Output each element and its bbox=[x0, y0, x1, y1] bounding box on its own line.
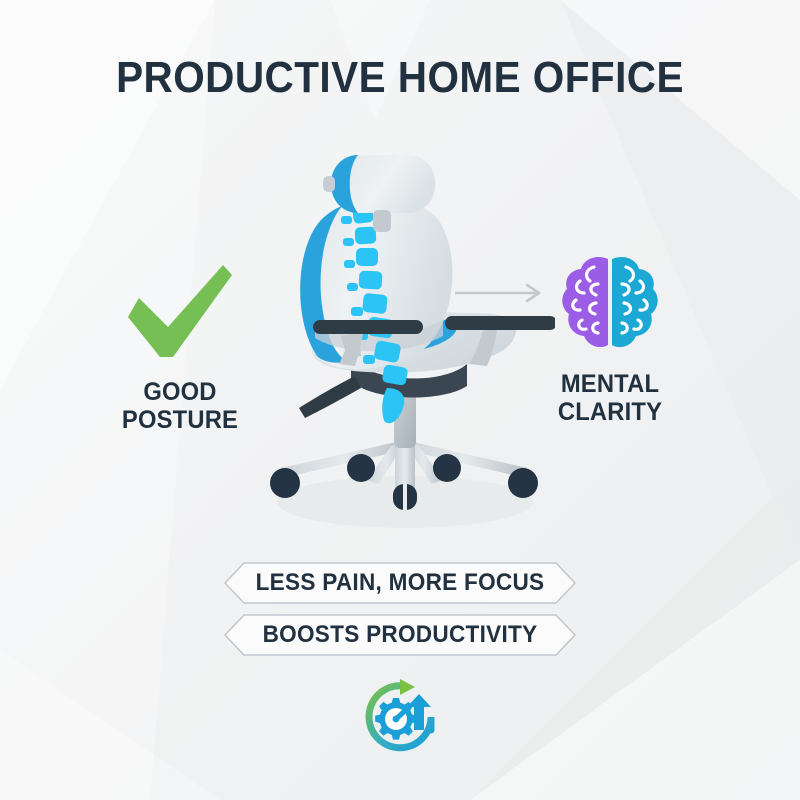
brain-icon bbox=[558, 251, 662, 355]
label-line-1: GOOD bbox=[80, 378, 280, 406]
ribbon-label: LESS PAIN, MORE FOCUS bbox=[235, 562, 566, 604]
infographic-poster: PRODUCTIVE HOME OFFICE GOOD POSTURE bbox=[0, 0, 800, 800]
caster-wheel bbox=[433, 454, 461, 482]
adjustment-lever bbox=[299, 376, 361, 418]
headrest-post bbox=[373, 210, 391, 232]
productivity-gear-arrow-icon bbox=[361, 678, 439, 756]
benefit-ribbons: LESS PAIN, MORE FOCUS BOOSTS PRODUCTIVIT… bbox=[0, 562, 800, 656]
ergonomic-office-chair bbox=[255, 150, 555, 550]
feature-good-posture-label: GOOD POSTURE bbox=[80, 378, 280, 434]
green-check-icon-wrap bbox=[75, 258, 285, 364]
label-line-2: POSTURE bbox=[80, 406, 280, 434]
caster-wheel bbox=[270, 468, 300, 498]
caster-wheel bbox=[347, 454, 375, 482]
caster-wheel bbox=[508, 468, 538, 498]
page-title: PRODUCTIVE HOME OFFICE bbox=[32, 52, 768, 104]
feature-good-posture: GOOD POSTURE bbox=[75, 258, 285, 434]
badge-wrap bbox=[0, 678, 800, 756]
ribbon-less-pain-more-focus: LESS PAIN, MORE FOCUS bbox=[224, 562, 576, 604]
green-check-icon bbox=[128, 265, 232, 357]
ribbon-boosts-productivity: BOOSTS PRODUCTIVITY bbox=[224, 614, 576, 656]
ribbon-label: BOOSTS PRODUCTIVITY bbox=[235, 614, 566, 656]
headrest-knob bbox=[323, 176, 335, 192]
